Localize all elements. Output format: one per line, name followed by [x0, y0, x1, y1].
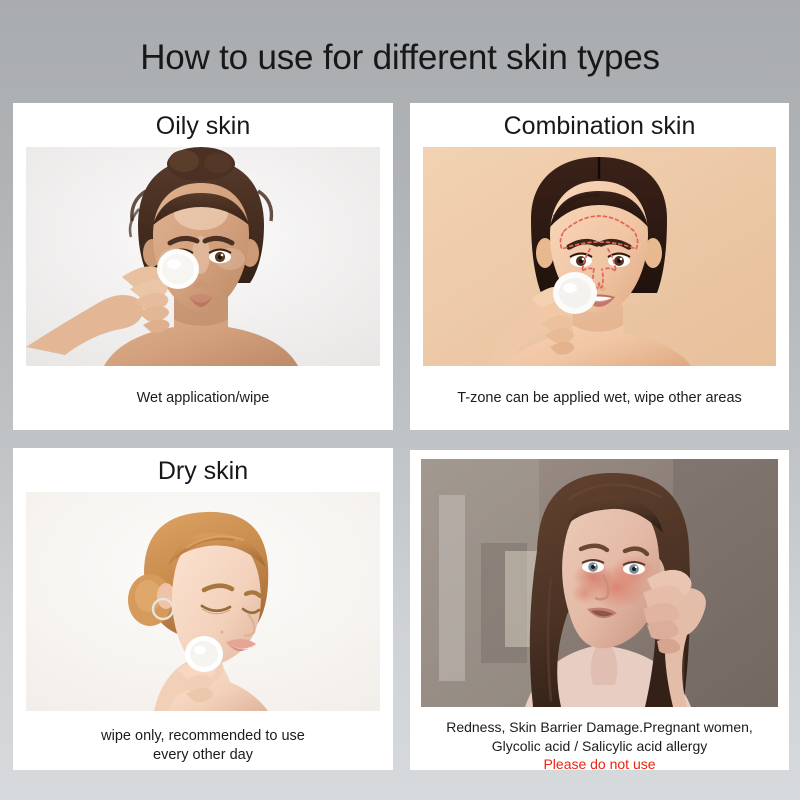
caption-line-1: Redness, Skin Barrier Damage.Pregnant wo…: [446, 719, 753, 735]
caption-line-2: every other day: [153, 747, 253, 763]
caption-line-2: Glycolic acid / Salicylic acid allergy: [492, 738, 708, 754]
dry-skin-photo: [26, 492, 380, 711]
caption-line-1: T-zone can be applied wet, wipe other ar…: [457, 390, 742, 406]
irritated-skin-illustration: [421, 459, 778, 707]
card-title-combination-skin: Combination skin: [410, 103, 789, 141]
card-caption-dry-skin: wipe only, recommended to use every othe…: [13, 727, 393, 765]
combination-skin-photo: [423, 147, 776, 366]
caption-line-1: Wet application/wipe: [137, 390, 270, 406]
oily-skin-illustration: [26, 147, 380, 366]
card-caption-oily-skin: Wet application/wipe: [13, 389, 393, 408]
card-oily-skin: Oily skin: [13, 103, 393, 430]
card-caption-sensitive-skin: Redness, Skin Barrier Damage.Pregnant wo…: [410, 718, 789, 770]
card-caption-combination-skin: T-zone can be applied wet, wipe other ar…: [410, 389, 789, 408]
card-dry-skin: Dry skin: [13, 448, 393, 770]
irritated-skin-photo: [421, 459, 778, 707]
card-title-oily-skin: Oily skin: [13, 103, 393, 141]
card-sensitive-skin-warning: Redness, Skin Barrier Damage.Pregnant wo…: [410, 450, 789, 770]
skin-type-card-grid: Oily skin: [13, 103, 789, 770]
dry-skin-illustration: [26, 492, 380, 711]
caption-line-1: wipe only, recommended to use: [101, 728, 305, 744]
card-title-dry-skin: Dry skin: [13, 448, 393, 486]
page-title: How to use for different skin types: [0, 36, 800, 80]
oily-skin-photo: [26, 147, 380, 366]
card-combination-skin: Combination skin: [410, 103, 789, 430]
warning-text: Please do not use: [418, 755, 781, 770]
combination-skin-illustration: [423, 147, 776, 366]
